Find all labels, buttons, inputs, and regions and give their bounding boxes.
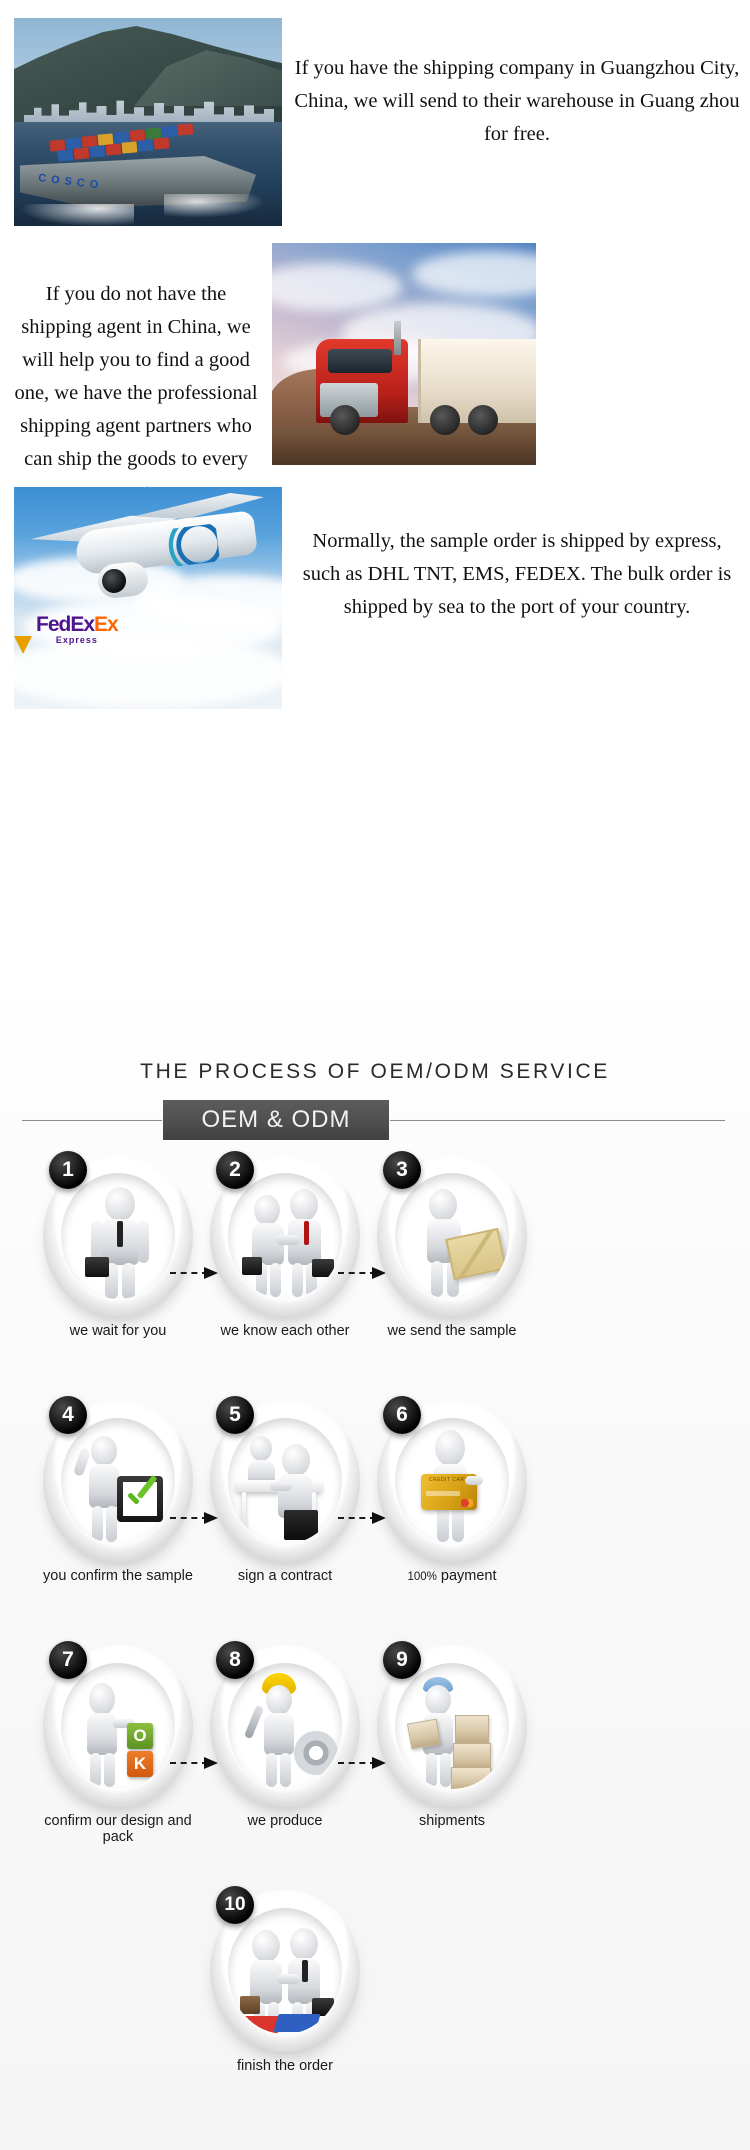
fedex-logo: FedExEx Express bbox=[36, 613, 118, 645]
cartons-shipping-icon bbox=[395, 1663, 509, 1789]
envelope-sample-icon bbox=[395, 1173, 509, 1299]
step-number-badge: 9 bbox=[383, 1641, 421, 1679]
process-step-2[interactable]: 2 we know each other bbox=[195, 1155, 375, 1339]
checkmark-approval-icon bbox=[61, 1418, 175, 1544]
process-row-1: 1 we wait for you bbox=[0, 1155, 750, 1400]
process-step-9[interactable]: 9 shipments bbox=[362, 1645, 542, 1829]
payment-percent: 100% bbox=[407, 1571, 436, 1583]
fedex-logo-text: FedEx bbox=[36, 613, 94, 636]
red-truck-photo bbox=[272, 243, 536, 465]
process-step-1[interactable]: 1 we wait for you bbox=[28, 1155, 208, 1339]
process-step-4[interactable]: 4 you confirm the sample bbox=[28, 1400, 208, 1584]
step-caption: we know each other bbox=[195, 1323, 375, 1339]
oem-chip-band: OEM & ODM bbox=[0, 1100, 750, 1140]
shipping-text-1: If you have the shipping company in Guan… bbox=[292, 52, 742, 151]
contract-signing-icon bbox=[228, 1418, 342, 1544]
step-number-badge: 2 bbox=[216, 1151, 254, 1189]
process-step-6[interactable]: CREDIT CARD 6 100% payment bbox=[362, 1400, 542, 1584]
step-number-badge: 5 bbox=[216, 1396, 254, 1434]
cargo-ship-photo: COSCO bbox=[14, 18, 282, 226]
process-step-8[interactable]: 8 we produce bbox=[195, 1645, 375, 1829]
process-row-3: O K 7 confirm our design and pack bbox=[0, 1645, 750, 1890]
step-caption: sign a contract bbox=[195, 1568, 375, 1584]
process-row-2: 4 you confirm the sample bbox=[0, 1400, 750, 1645]
step-number-badge: 1 bbox=[49, 1151, 87, 1189]
step-caption: we send the sample bbox=[362, 1323, 542, 1339]
step-number-badge: 6 bbox=[383, 1396, 421, 1434]
credit-card-icon: CREDIT CARD bbox=[395, 1418, 509, 1544]
oem-odm-section: THE PROCESS OF OEM/ODM SERVICE OEM & ODM bbox=[0, 1000, 750, 2150]
process-step-10[interactable]: 10 finish the order bbox=[195, 1890, 375, 2074]
step-number-badge: 10 bbox=[216, 1886, 254, 1924]
payment-label: payment bbox=[441, 1568, 497, 1584]
step-number-badge: 7 bbox=[49, 1641, 87, 1679]
shipping-text-2: If you do not have the shipping agent in… bbox=[8, 278, 264, 509]
oem-chip-label: OEM & ODM bbox=[163, 1100, 389, 1140]
step-number-badge: 4 bbox=[49, 1396, 87, 1434]
step-number-badge: 3 bbox=[383, 1151, 421, 1189]
process-step-3[interactable]: 3 we send the sample bbox=[362, 1155, 542, 1339]
worker-gear-icon bbox=[228, 1663, 342, 1789]
process-row-4: 10 finish the order bbox=[0, 1890, 750, 2120]
fedex-express-text: Express bbox=[36, 635, 118, 645]
step-caption: you confirm the sample bbox=[28, 1568, 208, 1584]
step-caption: we wait for you bbox=[28, 1323, 208, 1339]
businessman-waiting-icon bbox=[61, 1173, 175, 1299]
deal-handshake-icon bbox=[228, 1908, 342, 2034]
rule-left bbox=[22, 1120, 162, 1121]
step-caption: finish the order bbox=[195, 2058, 375, 2074]
product-detail-page: COSCO If you have the shipping company i… bbox=[0, 0, 750, 2150]
process-step-5[interactable]: 5 sign a contract bbox=[195, 1400, 375, 1584]
step-number-badge: 8 bbox=[216, 1641, 254, 1679]
ok-blocks-icon: O K bbox=[61, 1663, 175, 1789]
shipping-text-3: Normally, the sample order is shipped by… bbox=[292, 525, 742, 624]
process-step-7[interactable]: O K 7 confirm our design and pack bbox=[28, 1645, 208, 1845]
step-caption: confirm our design and pack bbox=[28, 1813, 208, 1845]
step-caption: 100% payment bbox=[362, 1568, 542, 1584]
process-steps: 1 we wait for you bbox=[0, 1155, 750, 2120]
step-caption: shipments bbox=[362, 1813, 542, 1829]
handshake-icon bbox=[228, 1173, 342, 1299]
rule-right bbox=[390, 1120, 725, 1121]
step-caption: we produce bbox=[195, 1813, 375, 1829]
air-freight-photo: FedExEx Express DHL TNT ups EMS bbox=[14, 487, 282, 709]
oem-section-title: THE PROCESS OF OEM/ODM SERVICE bbox=[0, 1060, 750, 1084]
